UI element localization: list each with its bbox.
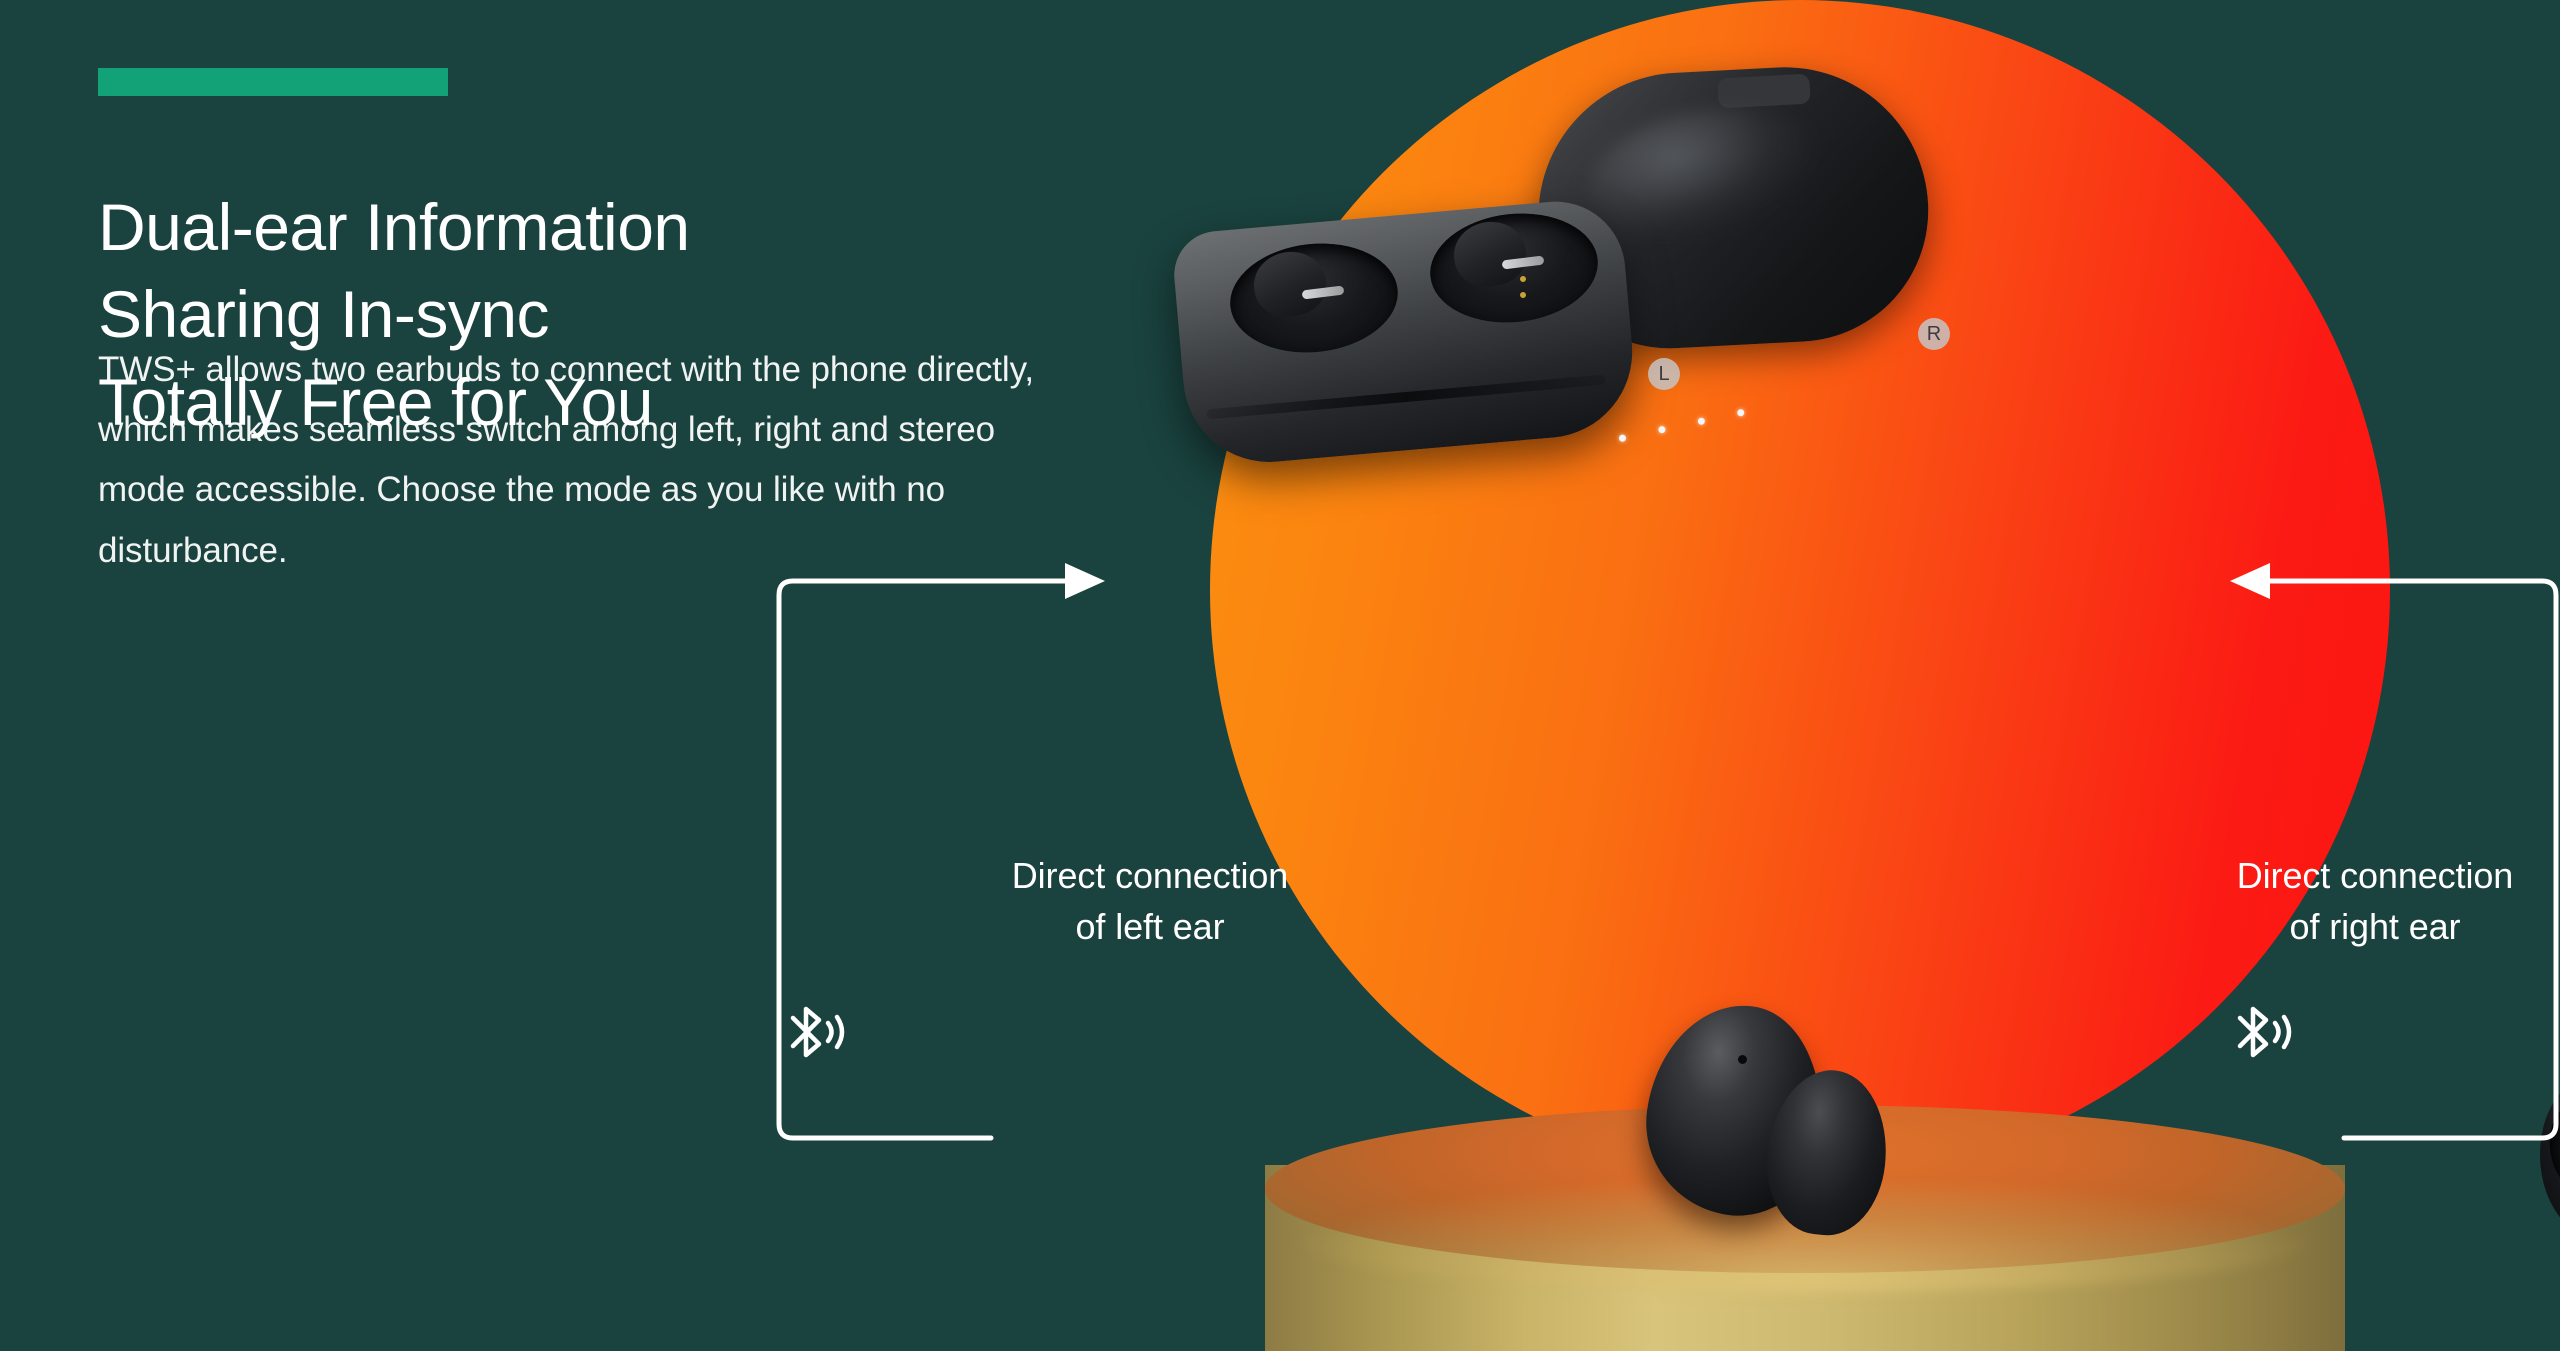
bluetooth-icon — [785, 1000, 847, 1068]
case-led-dot — [1737, 409, 1745, 417]
product-feature-banner: Dual-ear Information Sharing In-sync Tot… — [0, 0, 2560, 1351]
case-contact-dot — [1520, 292, 1526, 298]
product-scene: L R — [1150, 0, 2560, 1351]
connection-bracket-right-foot — [2340, 1090, 2560, 1150]
case-marking-left: L — [1648, 358, 1680, 390]
earbud-left-microphone — [1738, 1055, 1747, 1064]
headline-highlight-bar — [98, 68, 448, 96]
bluetooth-icon — [2232, 1000, 2294, 1068]
headline-text: Dual-ear Information Sharing In-sync Tot… — [98, 190, 690, 440]
case-contact-dot — [1520, 276, 1526, 282]
connection-label-left: Direct connection of left ear — [935, 850, 1365, 952]
connection-bracket-left-foot — [775, 1090, 995, 1150]
case-led-dot — [1619, 434, 1627, 442]
case-hinge — [1717, 74, 1810, 109]
case-led-dot — [1698, 417, 1706, 425]
case-marking-right: R — [1918, 318, 1950, 350]
connection-label-right: Direct connection of right ear — [2160, 850, 2560, 952]
case-led-dot — [1658, 426, 1666, 434]
